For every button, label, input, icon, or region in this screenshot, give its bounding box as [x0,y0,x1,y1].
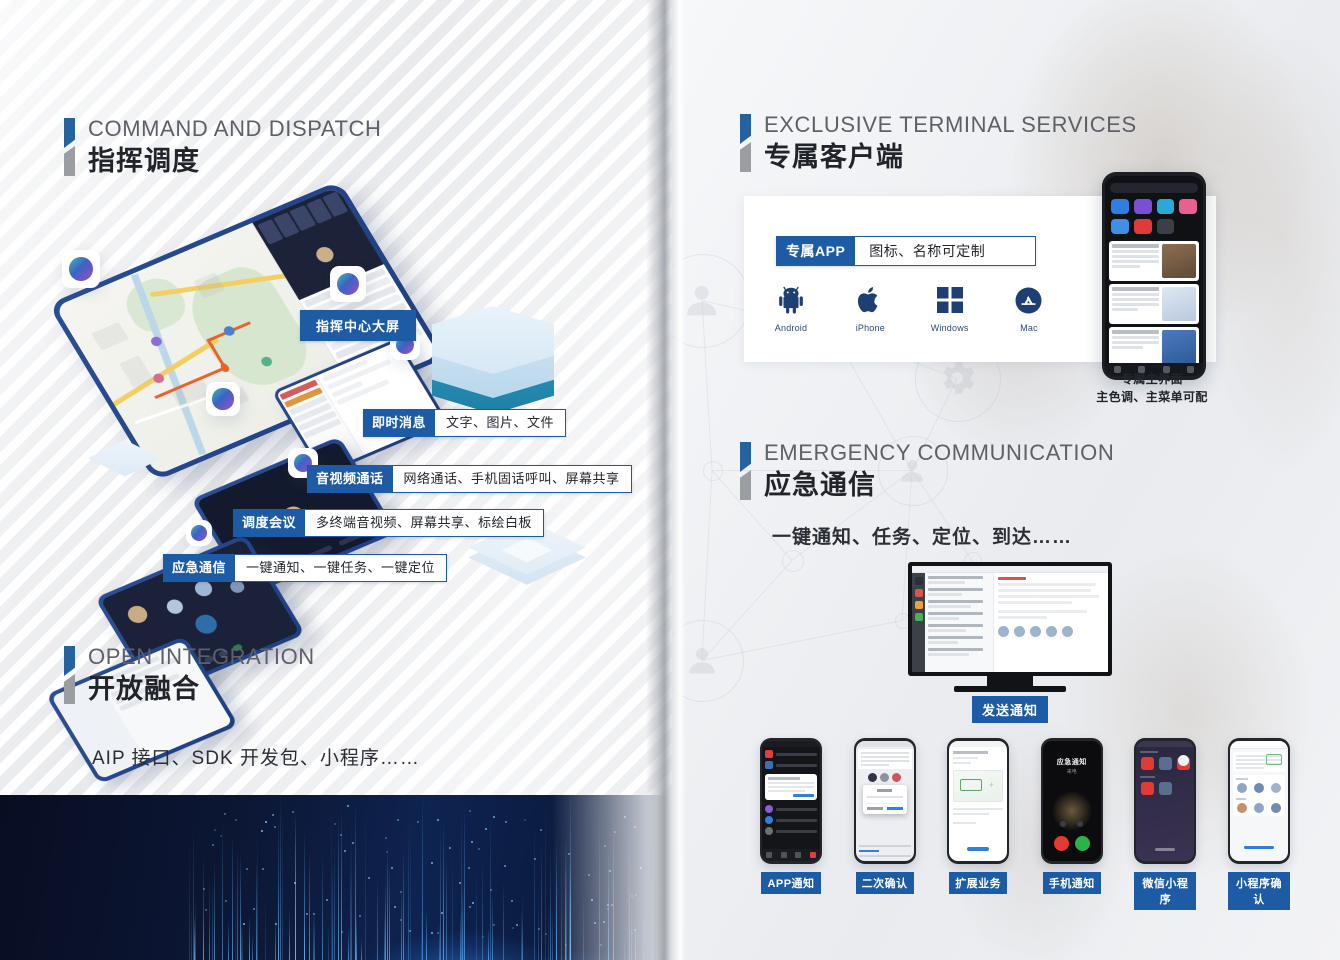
mac-appstore-icon [998,282,1060,318]
label-desc: 一键通知、一键任务、一键定位 [235,554,447,582]
floating-card-3 [330,266,366,302]
phone-label: 小程序确认 [1228,872,1290,910]
accept-call-button[interactable] [1075,836,1090,851]
phone-scenario-row: APP通知 [760,738,1290,910]
accent-bar-icon [740,114,751,172]
android-icon [760,282,822,318]
layered-hex-graphic [432,300,554,418]
label-tag: 应急通信 [163,554,235,582]
platform-iphone: iPhone [839,282,901,333]
section-eyebrow: COMMAND AND DISPATCH [88,116,382,142]
section-title: 专属客户端 [764,140,1137,174]
platform-name: Mac [998,323,1060,333]
section-emergency-communication-heading: EMERGENCY COMMUNICATION 应急通信 [740,440,1114,502]
exclusive-app-label: 专属APP 图标、名称可定制 [776,236,1036,266]
call-title: 应急通知 [1043,757,1101,767]
phone-label: APP通知 [761,872,820,894]
platform-windows: Windows [919,282,981,333]
label-tag: 专属APP [776,236,855,266]
news-card [1109,284,1199,324]
brochure-page: COMMAND AND DISPATCH 指挥调度 [0,0,1340,960]
label-tag: 音视频通话 [307,465,393,493]
platform-name: Windows [919,323,981,333]
section-open-integration-heading: OPEN INTEGRATION 开放融合 [64,644,315,706]
accent-bar-icon [64,118,75,176]
accent-bar-icon [64,646,75,704]
emergency-subtitle: 一键通知、任务、定位、到达…… [772,522,1072,549]
label-emergency-communication: 应急通信 一键通知、一键任务、一键定位 [163,554,447,582]
call-subtitle: 来电 [1043,768,1101,775]
branded-app-phone-mockup [1102,172,1206,380]
floating-card-1 [62,250,100,288]
section-exclusive-terminal-heading: EXCLUSIVE TERMINAL SERVICES 专属客户端 [740,112,1137,174]
phone-scenario-incoming-call: 应急通知 来电 手机通知 [1041,738,1103,910]
section-eyebrow: EXCLUSIVE TERMINAL SERVICES [764,112,1137,138]
windows-icon [919,282,981,318]
section-title: 开放融合 [88,672,315,706]
phone-label: 扩展业务 [949,872,1007,894]
decline-call-button[interactable] [1054,836,1069,851]
label-tag: 调度会议 [233,509,305,537]
notification-detail-pane [994,573,1108,672]
send-notification-button[interactable]: 发送通知 [972,696,1048,723]
phone-scenario-wechat-miniprogram: 微信小程序 [1134,738,1196,910]
confirm-dialog [863,785,907,814]
accent-bar-icon [740,442,751,500]
platform-icon-row: Android iPhone Windows [760,282,1060,333]
phone-caption-line2: 主色调、主菜单可配 [1090,388,1214,406]
platform-name: iPhone [839,323,901,333]
page-spine [646,0,686,960]
conversation-list [925,573,994,672]
phone-caption-line1: 专属主界面 [1090,370,1214,388]
phone-label: 二次确认 [856,872,914,894]
phone-scenario-miniprogram-confirm: 小程序确认 [1228,738,1290,910]
section-title: 应急通信 [764,468,1114,502]
label-audio-video-call: 音视频通话 网络通话、手机固话呼叫、屏幕共享 [307,465,632,493]
phone-caption: 专属主界面 主色调、主菜单可配 [1090,370,1214,406]
label-instant-message: 即时消息 文字、图片、文件 [363,409,566,437]
app-sidebar [912,573,925,672]
tech-banner-image [0,795,672,960]
floating-card-6 [186,520,212,546]
news-card [1109,327,1199,367]
label-desc: 网络通话、手机固话呼叫、屏幕共享 [393,465,632,493]
label-dispatch-conference: 调度会议 多终端音视频、屏幕共享、标绘白板 [233,509,544,537]
news-card [1109,241,1199,281]
label-desc: 图标、名称可定制 [855,236,1036,266]
open-integration-subtitle: AIP 接口、SDK 开发包、小程序…… [92,743,420,770]
phone-search-bar [1110,183,1198,193]
section-command-dispatch-heading: COMMAND AND DISPATCH 指挥调度 [64,116,382,178]
desktop-monitor-mockup [908,562,1112,688]
section-eyebrow: EMERGENCY COMMUNICATION [764,440,1114,466]
window-titlebar [912,566,1108,573]
label-desc: 文字、图片、文件 [435,409,566,437]
section-title: 指挥调度 [88,144,382,178]
phone-scenario-extended-business: + 扩展业务 [947,738,1009,910]
apple-icon [839,282,901,318]
phone-label: 手机通知 [1043,872,1101,894]
phone-label: 微信小程序 [1134,872,1196,910]
section-eyebrow: OPEN INTEGRATION [88,644,315,670]
phone-scenario-app-notice: APP通知 [760,738,822,910]
floating-card-2 [206,382,240,416]
send-notification-button-wrap: 发送通知 [908,696,1112,723]
label-command-center-screen: 指挥中心大屏 [300,310,416,341]
phone-scenario-second-confirm: 二次确认 [854,738,916,910]
label-tag: 即时消息 [363,409,435,437]
platform-android: Android [760,282,822,333]
phone-app-grid [1105,197,1203,238]
label-desc: 多终端音视频、屏幕共享、标绘白板 [305,509,544,537]
recipient-avatars [998,626,1104,637]
small-hex-graphic [88,440,162,488]
platform-name: Android [760,323,822,333]
platform-mac: Mac [998,282,1060,333]
